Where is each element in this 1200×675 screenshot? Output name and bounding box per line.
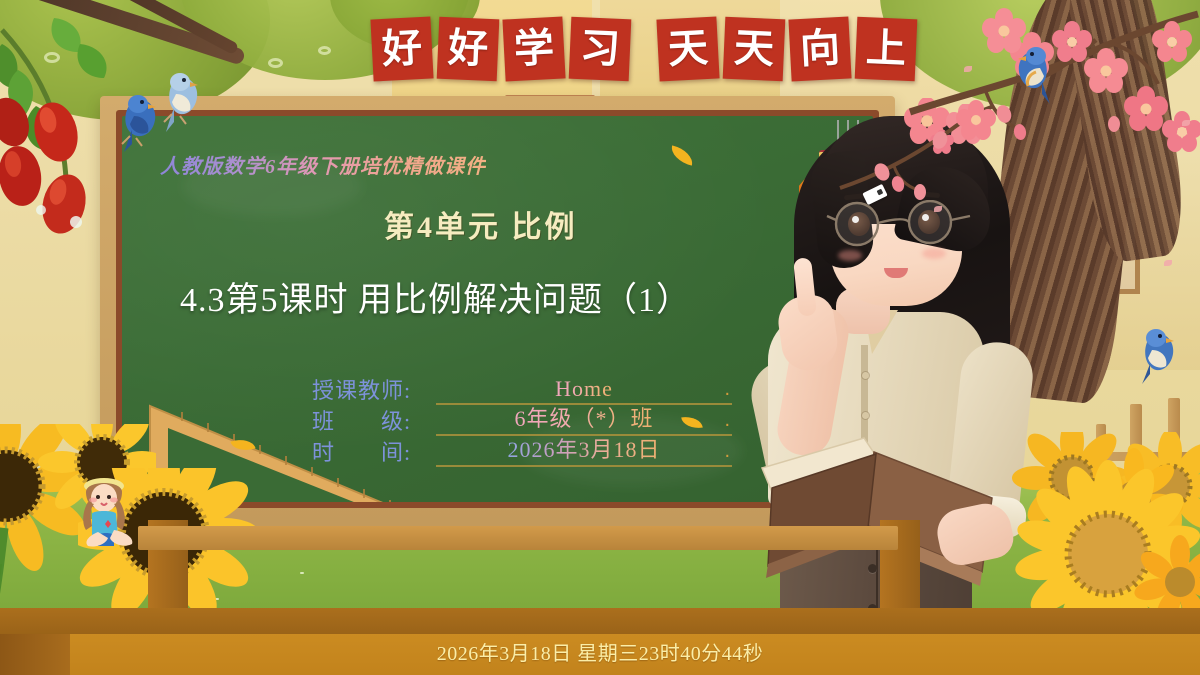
desk-shelf: [138, 526, 898, 550]
girl-on-sunflower-character: [62, 470, 152, 570]
slide-canvas: 人教版数学6年级下册培优精做课件 第4单元 比例 4.3第5课时 用比例解决问题…: [0, 0, 1200, 675]
info-value: Home: [555, 376, 613, 401]
motto-card: 好: [437, 17, 500, 82]
motto-card: 好: [370, 16, 433, 81]
footer-timestamp: 2026年3月18日 星期三23时40分44秒: [0, 637, 1200, 666]
blue-bird-icon: [150, 62, 214, 132]
motto-char: 好: [447, 28, 489, 70]
lesson-title: 4.3第5课时 用比例解决问题（1）: [180, 272, 691, 321]
motto-card: 习: [569, 17, 632, 82]
desk-edge: [0, 608, 1200, 634]
motto-card: 学: [502, 16, 565, 81]
course-subtitle: 人教版数学6年级下册培优精做课件: [160, 150, 486, 179]
blue-bird-icon: [1004, 36, 1066, 104]
motto-char: 学: [513, 28, 555, 70]
cherry-blossom-branch: [836, 100, 996, 210]
unit-heading: 第4单元 比例: [384, 202, 578, 246]
info-value: 6年级（*）班: [514, 406, 653, 431]
motto-char: 好: [381, 28, 423, 70]
info-label: 授课教师:: [312, 373, 436, 405]
info-value: 2026年3月18日: [507, 437, 660, 462]
blue-bird-icon: [1126, 318, 1188, 384]
motto-char: 习: [579, 28, 621, 70]
